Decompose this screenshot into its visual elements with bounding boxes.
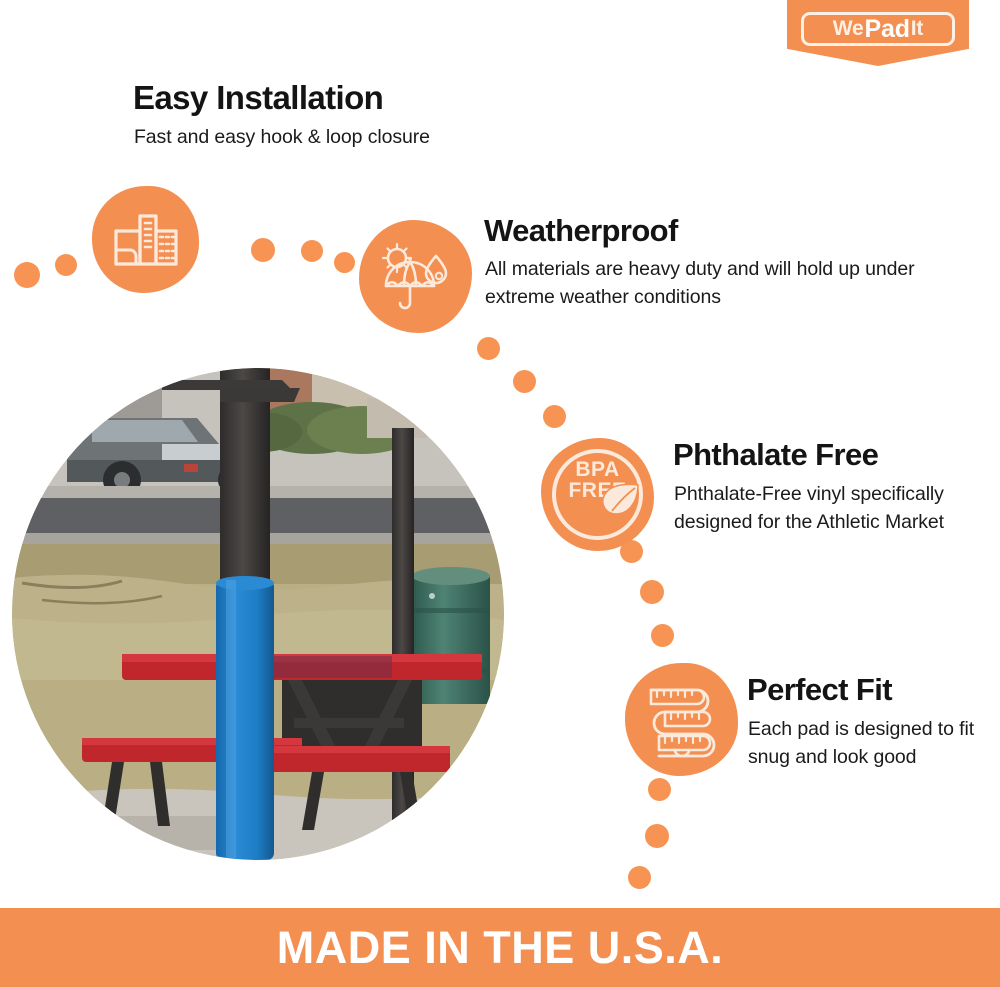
product-photo-scene bbox=[12, 368, 504, 860]
bpa-free-leaf-icon: BPA FREE bbox=[541, 438, 654, 551]
trail-dot bbox=[14, 262, 40, 288]
infographic-page: We Pad It Easy Installation Fast and eas… bbox=[0, 0, 1000, 987]
trail-dot bbox=[628, 866, 651, 889]
trail-dot bbox=[640, 580, 664, 604]
product-photo bbox=[12, 368, 504, 860]
feature-title-perfect-fit: Perfect Fit bbox=[747, 673, 892, 707]
made-in-usa-text: MADE IN THE U.S.A. bbox=[277, 922, 724, 974]
bpa-label-line1: BPA bbox=[541, 460, 654, 481]
trail-dot bbox=[251, 238, 275, 262]
building-icon bbox=[92, 186, 199, 293]
trail-dot bbox=[648, 778, 671, 801]
trail-dot bbox=[513, 370, 536, 393]
logo-plate: We Pad It bbox=[801, 12, 955, 46]
trail-dot bbox=[334, 252, 355, 273]
trail-dot bbox=[301, 240, 323, 262]
logo-text-we: We bbox=[833, 17, 864, 41]
logo-text-it: It bbox=[911, 17, 923, 41]
trail-dot bbox=[651, 624, 674, 647]
feature-desc-phthalate-free: Phthalate-Free vinyl specifically design… bbox=[674, 481, 944, 536]
trail-dot bbox=[645, 824, 669, 848]
feature-desc-weatherproof: All materials are heavy duty and will ho… bbox=[485, 256, 915, 311]
feature-title-easy-installation: Easy Installation bbox=[133, 80, 383, 116]
feature-desc-perfect-fit: Each pad is designed to fit snug and loo… bbox=[748, 716, 978, 771]
feature-title-weatherproof: Weatherproof bbox=[484, 214, 678, 248]
brand-logo: We Pad It bbox=[787, 0, 969, 66]
measuring-tape-icon bbox=[625, 663, 738, 776]
trail-dot bbox=[543, 405, 566, 428]
feature-title-phthalate-free: Phthalate Free bbox=[673, 438, 878, 472]
trail-dot bbox=[477, 337, 500, 360]
leaf-icon bbox=[597, 482, 641, 518]
trail-dot bbox=[55, 254, 77, 276]
made-in-usa-banner: MADE IN THE U.S.A. bbox=[0, 908, 1000, 987]
sun-umbrella-raindrop-icon bbox=[359, 220, 472, 333]
feature-desc-easy-installation: Fast and easy hook & loop closure bbox=[134, 124, 554, 152]
logo-text-pad: Pad bbox=[865, 15, 910, 44]
